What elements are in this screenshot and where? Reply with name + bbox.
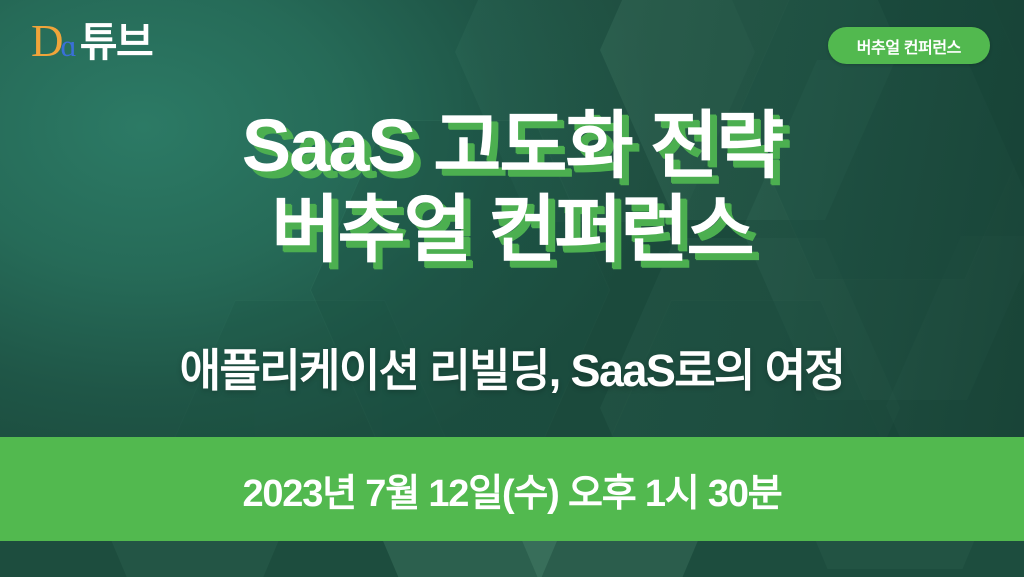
page-subtitle: 애플리케이션 리빌딩, SaaS로의 여정 <box>0 334 1024 399</box>
logo-alpha-icon: ɑ <box>61 30 77 61</box>
headline-line-1: SaaS 고도화 전략 <box>0 104 1024 188</box>
footer-strip <box>0 541 1024 577</box>
headline-line-2: 버추얼 컨퍼런스 <box>0 188 1024 272</box>
event-date-text: 2023년 7월 12일(수) 오후 1시 30분 <box>242 462 781 517</box>
status-badge-label: 버추얼 컨퍼런스 <box>857 34 961 58</box>
brand-logo[interactable]: D ɑ 튜브 <box>31 19 152 64</box>
event-date-bar: 2023년 7월 12일(수) 오후 1시 30분 <box>0 437 1024 541</box>
hexagon-shape <box>760 541 1024 569</box>
page-title: SaaS 고도화 전략 버추얼 컨퍼런스 <box>0 104 1024 273</box>
hexagon-shape <box>60 541 330 577</box>
status-badge[interactable]: 버추얼 컨퍼런스 <box>828 27 990 64</box>
conference-banner: D ɑ 튜브 버추얼 컨퍼런스 SaaS 고도화 전략 버추얼 컨퍼런스 애플리… <box>0 0 1024 577</box>
logo-d-icon: D <box>31 19 63 64</box>
logo-wordmark: 튜브 <box>80 22 152 63</box>
